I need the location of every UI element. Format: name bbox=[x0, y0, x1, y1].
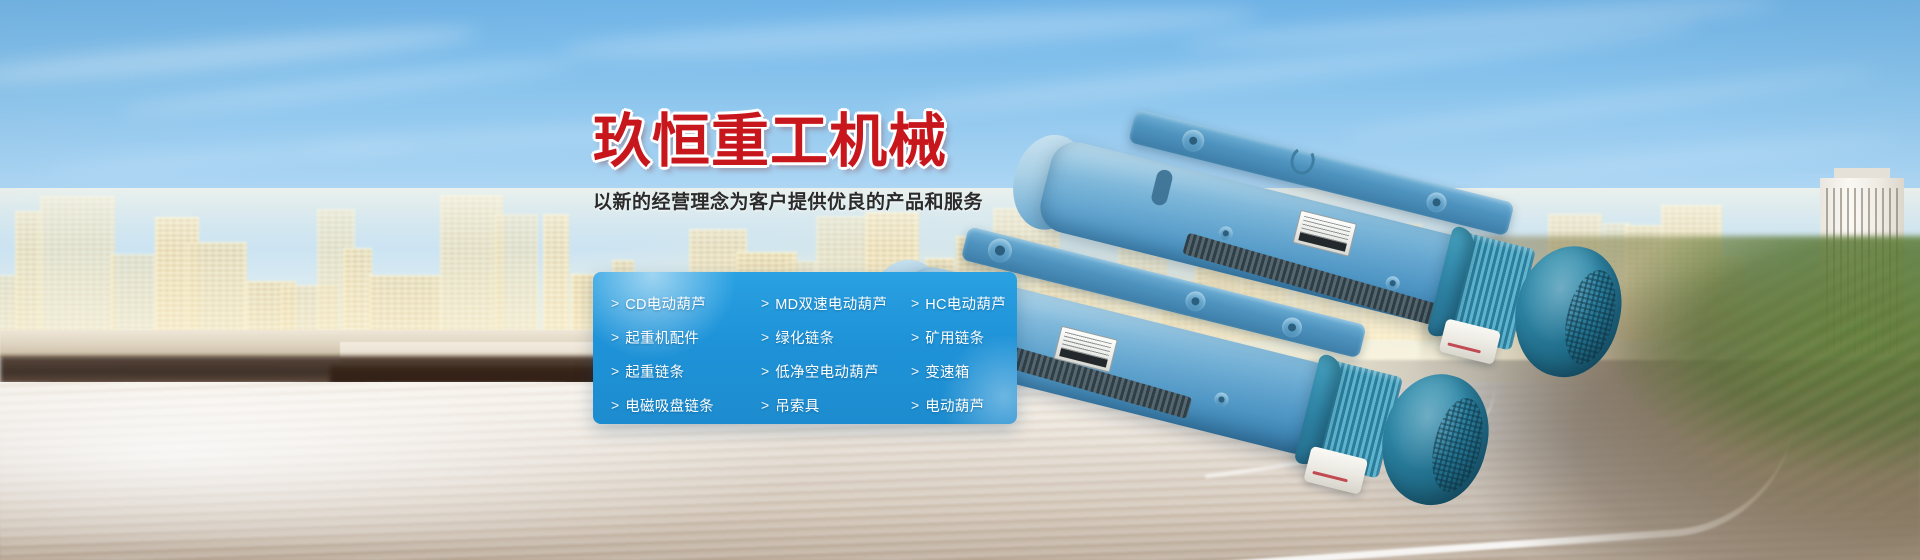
product-link-label: CD电动葫芦 bbox=[625, 293, 706, 314]
product-link[interactable]: >矿用链条 bbox=[911, 327, 1035, 348]
chevron-right-icon: > bbox=[761, 329, 769, 345]
chevron-right-icon: > bbox=[761, 295, 769, 311]
chevron-right-icon: > bbox=[761, 397, 769, 413]
product-link[interactable]: >电磁吸盘链条 bbox=[611, 395, 761, 416]
product-link-label: 矿用链条 bbox=[925, 327, 984, 348]
product-link[interactable]: >吊索具 bbox=[761, 395, 911, 416]
chevron-right-icon: > bbox=[911, 363, 919, 379]
hoist-fan-grille bbox=[1557, 265, 1624, 368]
product-links-panel: >CD电动葫芦>MD双速电动葫芦>HC电动葫芦>起重机配件>绿化链条>矿用链条>… bbox=[593, 272, 1017, 424]
chevron-right-icon: > bbox=[611, 295, 619, 311]
product-links-grid: >CD电动葫芦>MD双速电动葫芦>HC电动葫芦>起重机配件>绿化链条>矿用链条>… bbox=[593, 286, 1017, 422]
chevron-right-icon: > bbox=[911, 329, 919, 345]
product-link-label: MD双速电动葫芦 bbox=[775, 293, 887, 314]
product-link-label: 变速箱 bbox=[925, 361, 969, 382]
banner-subtitle: 以新的经营理念为客户提供优良的产品和服务 bbox=[593, 187, 1063, 214]
product-link-label: 低净空电动葫芦 bbox=[775, 361, 879, 382]
product-link[interactable]: >HC电动葫芦 bbox=[911, 293, 1035, 314]
product-link[interactable]: >CD电动葫芦 bbox=[611, 293, 761, 314]
banner-title: 玖恒重工机械 bbox=[593, 112, 1063, 173]
chevron-right-icon: > bbox=[611, 329, 619, 345]
product-link[interactable]: >MD双速电动葫芦 bbox=[761, 293, 911, 314]
product-link[interactable]: >起重机配件 bbox=[611, 327, 761, 348]
chevron-right-icon: > bbox=[911, 397, 919, 413]
product-link-label: 电动葫芦 bbox=[925, 395, 984, 416]
product-link-label: 绿化链条 bbox=[775, 327, 834, 348]
product-link[interactable]: >变速箱 bbox=[911, 361, 1035, 382]
chevron-right-icon: > bbox=[761, 363, 769, 379]
product-link[interactable]: >低净空电动葫芦 bbox=[761, 361, 911, 382]
product-link[interactable]: >起重链条 bbox=[611, 361, 761, 382]
chevron-right-icon: > bbox=[911, 295, 919, 311]
chevron-right-icon: > bbox=[611, 397, 619, 413]
hero-banner: 玖恒重工机械 以新的经营理念为客户提供优良的产品和服务 >CD电动葫芦>MD双速… bbox=[0, 0, 1920, 560]
banner-text-block: 玖恒重工机械 以新的经营理念为客户提供优良的产品和服务 bbox=[593, 112, 1063, 214]
product-link[interactable]: >绿化链条 bbox=[761, 327, 911, 348]
product-link[interactable]: >电动葫芦 bbox=[911, 395, 1035, 416]
product-link-label: 起重链条 bbox=[625, 361, 684, 382]
product-link-label: 电磁吸盘链条 bbox=[625, 395, 714, 416]
product-link-label: 起重机配件 bbox=[625, 327, 699, 348]
product-link-label: HC电动葫芦 bbox=[925, 293, 1006, 314]
product-link-label: 吊索具 bbox=[775, 395, 819, 416]
chevron-right-icon: > bbox=[611, 363, 619, 379]
